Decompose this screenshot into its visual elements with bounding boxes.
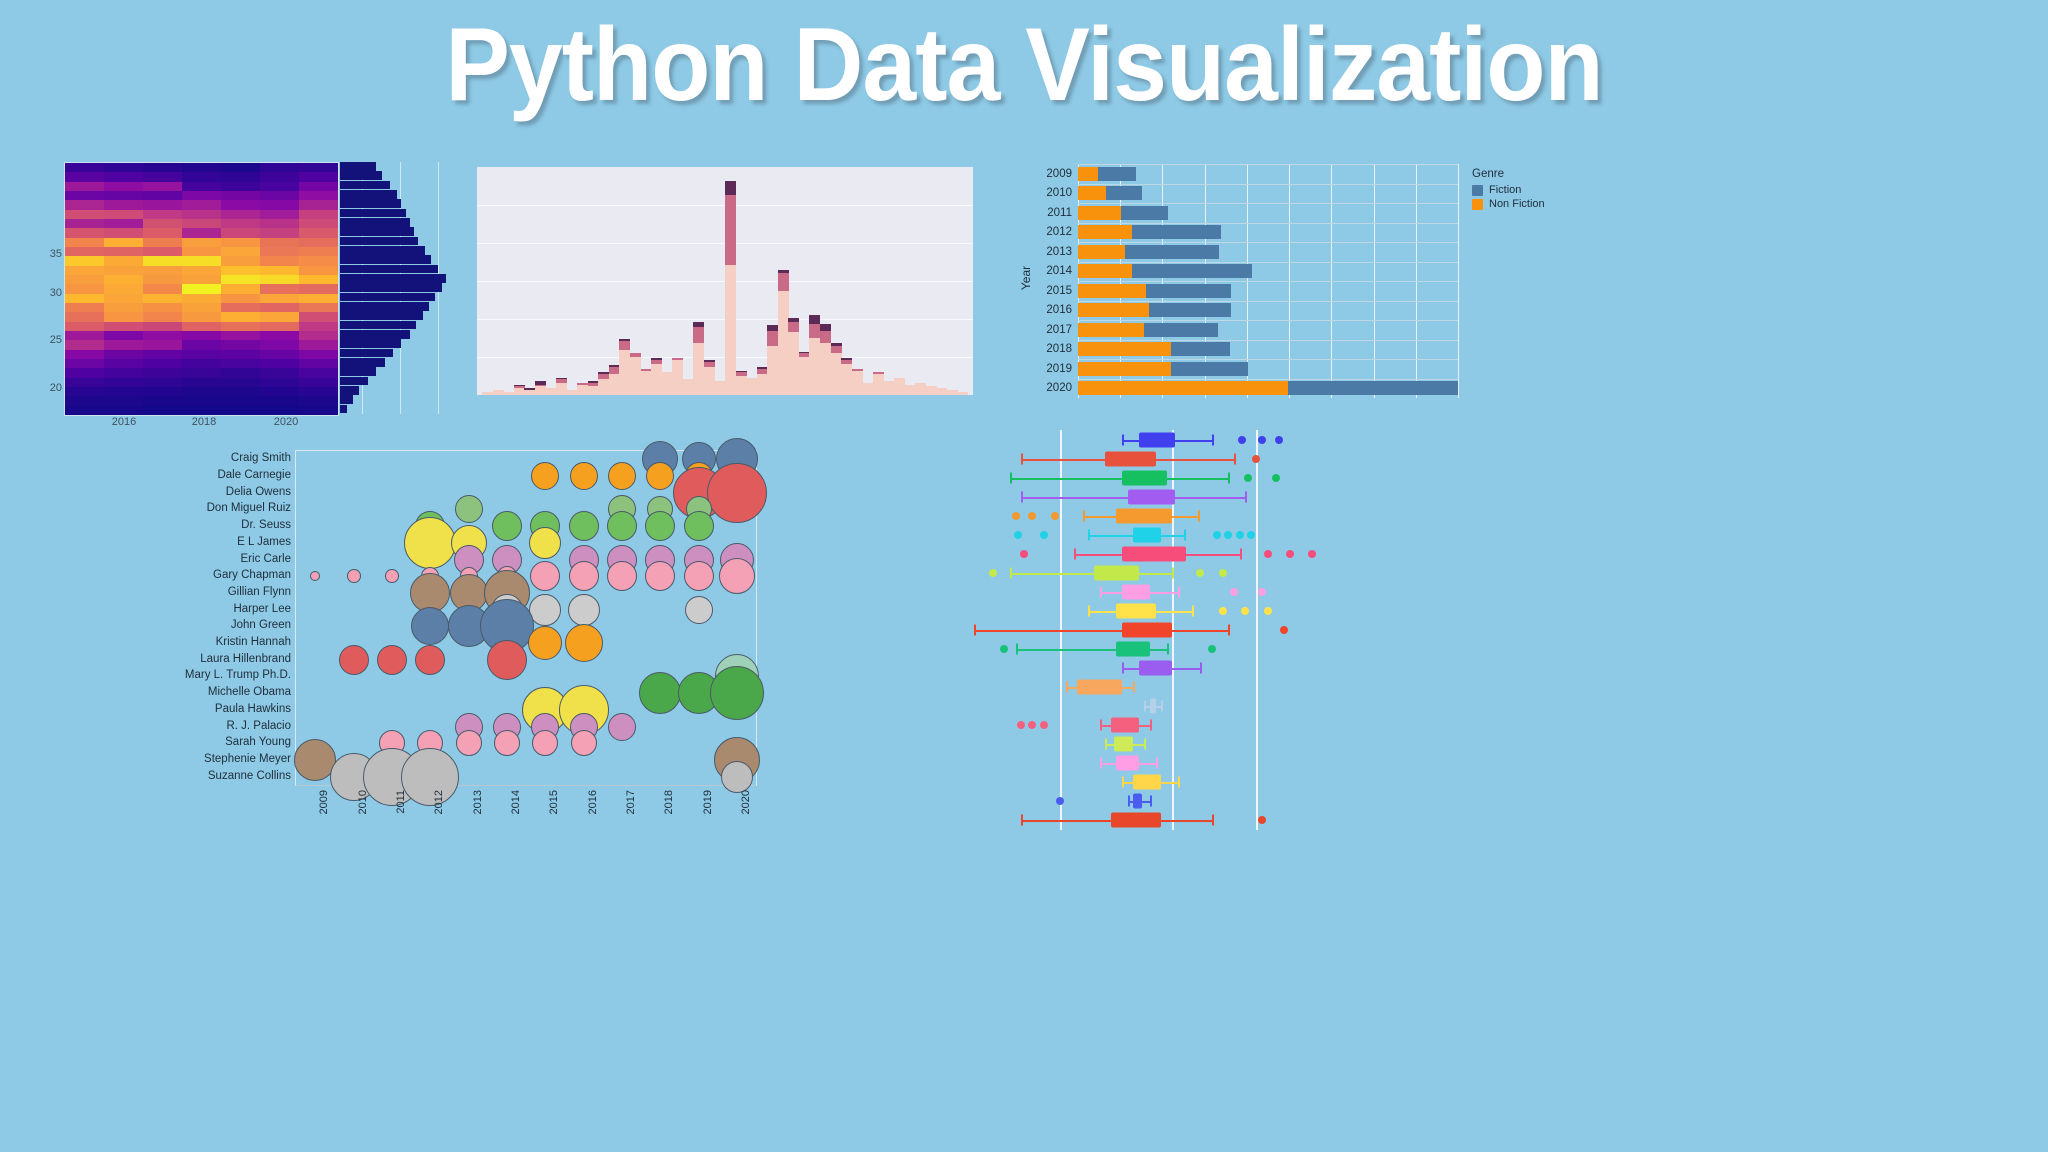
- histogram-column: [915, 383, 926, 395]
- bubble-point[interactable]: [608, 462, 636, 490]
- heatmap-cell: [143, 303, 182, 312]
- genre-legend-title: Genre: [1472, 168, 1545, 180]
- fiction-swatch: [1472, 185, 1483, 196]
- heatmap-cell: [182, 219, 221, 228]
- boxplot-box[interactable]: [1111, 813, 1161, 828]
- marginal-hist-bar: [340, 237, 418, 246]
- stacked-bar-row[interactable]: [1078, 303, 1458, 317]
- boxplot-whisker-cap: [1128, 796, 1130, 807]
- bubble-point[interactable]: [569, 561, 599, 591]
- boxplot-flier: [1272, 474, 1280, 482]
- boxplot-whisker-cap: [1150, 720, 1152, 731]
- bubble-point[interactable]: [571, 730, 597, 756]
- histogram-segment: [778, 273, 789, 290]
- stacked-bar-segment-non-fiction[interactable]: [1078, 264, 1132, 278]
- bubble-point[interactable]: [710, 666, 764, 720]
- heatmap-cell: [104, 228, 143, 237]
- heatmap-cell: [299, 350, 338, 359]
- boxplot-box[interactable]: [1105, 451, 1155, 466]
- heatmap-cell: [65, 350, 104, 359]
- heatmap-y-tick: 20: [50, 382, 62, 394]
- stacked-bar-year-label: 2012: [1046, 226, 1072, 238]
- heatmap-cell: [143, 238, 182, 247]
- stacked-bar-segment-non-fiction[interactable]: [1078, 381, 1288, 395]
- bubble-point[interactable]: [684, 511, 714, 541]
- stacked-bar-segment-non-fiction[interactable]: [1078, 245, 1125, 259]
- heatmap-cell: [260, 350, 299, 359]
- stacked-bar-row[interactable]: [1078, 225, 1458, 239]
- histogram-column: [535, 381, 546, 395]
- histogram-segment: [820, 324, 831, 331]
- histogram-column: [947, 390, 958, 395]
- stacked-bar-row[interactable]: [1078, 264, 1458, 278]
- bubble-point[interactable]: [707, 463, 767, 523]
- boxplot-whisker: [1010, 478, 1228, 480]
- boxplot-flier: [1264, 550, 1272, 558]
- boxplot-box[interactable]: [1077, 680, 1122, 695]
- stacked-bar-segment-fiction[interactable]: [1132, 264, 1251, 278]
- histogram-segment: [809, 338, 820, 395]
- histogram-segment: [598, 379, 609, 395]
- heatmap-cell: [143, 163, 182, 172]
- heatmap-cell: [299, 331, 338, 340]
- bubble-author-label: Stephenie Meyer: [204, 753, 291, 765]
- histogram-column: [862, 383, 873, 395]
- bubble-plot-area: [295, 450, 757, 786]
- bubble-author-label: E L James: [237, 536, 291, 548]
- heatmap-cell: [65, 331, 104, 340]
- bubble-point[interactable]: [684, 561, 714, 591]
- stacked-bar-row-divider: [1078, 379, 1458, 380]
- histogram-segment: [915, 383, 926, 395]
- heatmap-cell: [104, 256, 143, 265]
- boxplot-box[interactable]: [1122, 470, 1167, 485]
- stacked-bar-segment-non-fiction[interactable]: [1078, 303, 1149, 317]
- bubble-year-label: 2019: [702, 790, 714, 814]
- stacked-bar-row[interactable]: [1078, 186, 1458, 200]
- stacked-bar-row-divider: [1078, 301, 1458, 302]
- stacked-bar-row-divider: [1078, 262, 1458, 263]
- histogram-segment: [725, 195, 736, 265]
- histogram-segment: [904, 385, 915, 395]
- bubble-point[interactable]: [645, 511, 675, 541]
- bubble-point[interactable]: [377, 645, 407, 675]
- histogram-column: [651, 358, 662, 395]
- boxplot-gridline: [1256, 430, 1258, 830]
- histogram-segment: [809, 315, 820, 324]
- boxplot-whisker-cap: [1198, 510, 1200, 521]
- histogram-segment: [767, 331, 778, 347]
- boxplot-box[interactable]: [1094, 565, 1139, 580]
- histogram-column: [957, 392, 968, 395]
- heatmap-cell: [143, 331, 182, 340]
- boxplot-flier: [1280, 626, 1288, 634]
- histogram-column: [693, 322, 704, 395]
- bubble-point[interactable]: [608, 713, 636, 741]
- bubble-point[interactable]: [492, 511, 522, 541]
- boxplot-whisker-cap: [1156, 758, 1158, 769]
- histogram-column: [757, 367, 768, 395]
- histogram-column: [714, 381, 725, 395]
- heatmap-cell: [260, 163, 299, 172]
- boxplot-whisker-cap: [1144, 701, 1146, 712]
- heatmap-cell: [182, 238, 221, 247]
- histogram-segment: [820, 343, 831, 395]
- boxplot-box[interactable]: [1116, 603, 1155, 618]
- heatmap-cell: [182, 340, 221, 349]
- histogram-segment: [641, 371, 652, 395]
- bubble-point[interactable]: [532, 730, 558, 756]
- stacked-bar-row[interactable]: [1078, 206, 1458, 220]
- histogram-column: [926, 386, 937, 395]
- stacked-bar-segment-fiction[interactable]: [1149, 303, 1231, 317]
- bubble-author-label: Harper Lee: [233, 603, 291, 615]
- boxplot-box[interactable]: [1150, 699, 1156, 714]
- heatmap-cell: [143, 275, 182, 284]
- heatmap-cell: [221, 266, 260, 275]
- heatmap-cell: [143, 350, 182, 359]
- heatmap-cell: [65, 163, 104, 172]
- stacked-bar-plot-area: [1078, 164, 1458, 398]
- bubble-point[interactable]: [568, 594, 600, 626]
- bubble-point[interactable]: [455, 495, 483, 523]
- boxplot-box[interactable]: [1133, 775, 1161, 790]
- bubble-point[interactable]: [530, 561, 560, 591]
- bubble-author-label: Don Miguel Ruiz: [207, 502, 291, 514]
- bubble-point[interactable]: [415, 645, 445, 675]
- heatmap-cell: [65, 396, 104, 405]
- heatmap-cell: [299, 163, 338, 172]
- histogram-segment: [820, 331, 831, 343]
- bubble-point[interactable]: [529, 527, 561, 559]
- heatmap-cell: [221, 322, 260, 331]
- marginal-hist-bar: [340, 265, 438, 274]
- heatmap-cell: [104, 312, 143, 321]
- boxplot-box[interactable]: [1116, 756, 1138, 771]
- heatmap-cell: [143, 219, 182, 228]
- heatmap-cell: [143, 294, 182, 303]
- stacked-bar-row[interactable]: [1078, 342, 1458, 356]
- boxplot-box[interactable]: [1116, 508, 1172, 523]
- marginal-hist-bar: [340, 218, 410, 227]
- heatmap-cell: [143, 266, 182, 275]
- heatmap-cell: [182, 256, 221, 265]
- histogram-column: [567, 390, 578, 395]
- bubble-point[interactable]: [529, 594, 561, 626]
- heatmap-x-tick: 2018: [192, 416, 216, 428]
- bubble-point[interactable]: [347, 569, 361, 583]
- histogram-column: [514, 385, 525, 395]
- bubble-author-label: Dale Carnegie: [217, 469, 291, 481]
- bubble-year-label: 2016: [587, 790, 599, 814]
- heatmap-cell: [221, 210, 260, 219]
- boxplot-box[interactable]: [1122, 623, 1172, 638]
- marginal-hist-bar: [340, 349, 393, 358]
- stacked-bar-row[interactable]: [1078, 167, 1458, 181]
- histogram-segment: [619, 350, 630, 395]
- bubble-point[interactable]: [411, 607, 449, 645]
- heatmap-cell: [260, 228, 299, 237]
- heatmap-cell: [182, 210, 221, 219]
- boxplot-flier: [1264, 607, 1272, 615]
- bubble-year-label: 2011: [395, 790, 407, 814]
- boxplot-whisker-cap: [1010, 567, 1012, 578]
- stacked-bar-row[interactable]: [1078, 245, 1458, 259]
- heatmap-cell: [143, 312, 182, 321]
- histogram-segment: [788, 322, 799, 332]
- stacked-bar-segment-fiction[interactable]: [1171, 342, 1230, 356]
- marginal-hist-bar: [340, 274, 446, 283]
- boxplot-whisker-cap: [1200, 663, 1202, 674]
- heatmap-cell: [221, 275, 260, 284]
- bubble-author-label: Suzanne Collins: [208, 770, 291, 782]
- heatmap-cell: [65, 200, 104, 209]
- heatmap-cell: [143, 322, 182, 331]
- histogram-column: [503, 392, 514, 395]
- stacked-bar-segment-fiction[interactable]: [1098, 167, 1135, 181]
- heatmap-cell: [65, 182, 104, 191]
- stacked-bar-segment-non-fiction[interactable]: [1078, 225, 1132, 239]
- histogram-segment: [503, 392, 514, 395]
- stacked-bar-segment-fiction[interactable]: [1146, 284, 1231, 298]
- heatmap-cell: [143, 228, 182, 237]
- heatmap-cell: [182, 247, 221, 256]
- histogram-column: [577, 383, 588, 395]
- bubble-point[interactable]: [607, 511, 637, 541]
- heatmap-cell: [221, 359, 260, 368]
- histogram-segment: [714, 381, 725, 395]
- boxplot-box[interactable]: [1139, 661, 1173, 676]
- heatmap-cell: [143, 247, 182, 256]
- bubble-author-label: Eric Carle: [241, 553, 291, 565]
- stacked-bar-segment-non-fiction[interactable]: [1078, 284, 1146, 298]
- boxplot-box[interactable]: [1128, 489, 1176, 504]
- histogram-segment: [577, 385, 588, 395]
- histogram-column: [936, 388, 947, 395]
- stacked-bar-row[interactable]: [1078, 284, 1458, 298]
- heatmap-cell: [182, 368, 221, 377]
- heatmap-cell: [182, 284, 221, 293]
- marginal-histogram: [340, 162, 448, 414]
- bubble-year-label: 2009: [318, 790, 330, 814]
- marginal-hist-bar: [340, 302, 429, 311]
- bubble-point[interactable]: [401, 748, 459, 806]
- histogram-segment: [546, 388, 557, 395]
- bubble-point[interactable]: [721, 761, 753, 793]
- bubble-year-label: 2020: [740, 790, 752, 814]
- heatmap-cell: [221, 378, 260, 387]
- heatmap-cell: [182, 275, 221, 284]
- bubble-point[interactable]: [570, 462, 598, 490]
- bubble-point[interactable]: [404, 517, 456, 569]
- bubble-point[interactable]: [310, 571, 320, 581]
- histogram-segment: [651, 364, 662, 395]
- heatmap-cell: [299, 284, 338, 293]
- histogram-segment: [767, 346, 778, 395]
- heatmap-x-tick: 2016: [112, 416, 136, 428]
- bubble-author-label: Paula Hawkins: [215, 703, 291, 715]
- heatmap-cell: [299, 322, 338, 331]
- boxplot-flier: [989, 569, 997, 577]
- boxplot-panel: [940, 430, 1360, 830]
- heatmap-cell: [260, 172, 299, 181]
- bubble-author-label: Sarah Young: [225, 736, 291, 748]
- histogram-segment: [683, 379, 694, 395]
- histogram-column: [799, 352, 810, 395]
- bubble-author-label: Delia Owens: [226, 486, 291, 498]
- boxplot-whisker-cap: [1122, 663, 1124, 674]
- heatmap-cell: [299, 182, 338, 191]
- stacked-bar-row[interactable]: [1078, 362, 1458, 376]
- marginal-hist-bar: [340, 190, 397, 199]
- boxplot-whisker-cap: [1228, 625, 1230, 636]
- heatmap-cell: [260, 275, 299, 284]
- histogram-segment: [725, 181, 736, 195]
- heatmap-cell: [221, 387, 260, 396]
- stacked-bar-segment-non-fiction[interactable]: [1078, 206, 1121, 220]
- heatmap-cell: [104, 284, 143, 293]
- bubble-point[interactable]: [385, 569, 399, 583]
- stacked-bar-row[interactable]: [1078, 381, 1458, 395]
- boxplot-whisker-cap: [1100, 586, 1102, 597]
- boxplot-flier: [1020, 550, 1028, 558]
- histogram-column: [630, 353, 641, 395]
- heatmap-cell: [299, 312, 338, 321]
- boxplot-box[interactable]: [1122, 546, 1186, 561]
- marginal-hist-bar: [340, 311, 423, 320]
- heatmap-cell: [182, 322, 221, 331]
- heatmap-y-axis: 35302520: [48, 162, 64, 414]
- boxplot-box[interactable]: [1133, 794, 1141, 809]
- stacked-bar-segment-fiction[interactable]: [1144, 323, 1218, 337]
- stacked-bar-segment-non-fiction[interactable]: [1078, 167, 1098, 181]
- heatmap-cell: [104, 210, 143, 219]
- boxplot-plot-area: [940, 430, 1360, 830]
- heatmap-y-tick: 30: [50, 287, 62, 299]
- stacked-bar-segment-fiction[interactable]: [1125, 245, 1219, 259]
- histogram-segment: [757, 374, 768, 395]
- histogram-column: [546, 388, 557, 395]
- heatmap-y-tick: 35: [50, 248, 62, 260]
- bubble-point[interactable]: [685, 596, 713, 624]
- boxplot-box[interactable]: [1116, 642, 1150, 657]
- bubble-point[interactable]: [494, 730, 520, 756]
- histogram-column: [493, 390, 504, 395]
- heatmap-cell: [260, 200, 299, 209]
- heatmap-cell: [299, 294, 338, 303]
- heatmap-cell: [221, 247, 260, 256]
- heatmap-cell: [299, 406, 338, 415]
- bubble-point[interactable]: [569, 511, 599, 541]
- heatmap-cell: [182, 350, 221, 359]
- histogram-column: [788, 318, 799, 395]
- marginal-hist-bar: [340, 255, 431, 264]
- heatmap-cell: [182, 182, 221, 191]
- stacked-bar-segment-fiction[interactable]: [1171, 362, 1248, 376]
- stacked-bar-segment-non-fiction[interactable]: [1078, 186, 1106, 200]
- boxplot-flier: [1275, 436, 1283, 444]
- boxplot-flier: [1012, 512, 1020, 520]
- marginal-hist-bar: [340, 395, 353, 404]
- stacked-bar-segment-non-fiction[interactable]: [1078, 342, 1171, 356]
- histogram-segment: [862, 383, 873, 395]
- bubble-point[interactable]: [645, 561, 675, 591]
- stacked-bar-row[interactable]: [1078, 323, 1458, 337]
- bubble-point[interactable]: [639, 672, 681, 714]
- histogram-column: [672, 358, 683, 395]
- bubble-author-label: Kristin Hannah: [216, 636, 291, 648]
- bubble-author-label: Gillian Flynn: [228, 586, 291, 598]
- bubble-point[interactable]: [339, 645, 369, 675]
- histogram-column: [778, 270, 789, 395]
- stacked-bar-segment-fiction[interactable]: [1288, 381, 1458, 395]
- bubble-point[interactable]: [719, 558, 755, 594]
- heatmap-cell: [260, 303, 299, 312]
- heatmap-cell: [299, 396, 338, 405]
- boxplot-box[interactable]: [1114, 737, 1134, 752]
- boxplot-box[interactable]: [1122, 584, 1150, 599]
- stacked-bar-segment-non-fiction[interactable]: [1078, 323, 1144, 337]
- histogram-column: [831, 343, 842, 395]
- boxplot-box[interactable]: [1139, 432, 1175, 447]
- histogram-segment: [778, 291, 789, 395]
- bubble-point[interactable]: [487, 640, 527, 680]
- legend-item-non-fiction[interactable]: Non Fiction: [1472, 198, 1545, 210]
- marginal-hist-bar: [340, 358, 385, 367]
- histogram-segment: [556, 383, 567, 395]
- stacked-bar-segment-fiction[interactable]: [1132, 225, 1220, 239]
- heatmap-cell: [65, 378, 104, 387]
- bubble-point[interactable]: [607, 561, 637, 591]
- stacked-bar-y-axis-title: Year: [1019, 266, 1033, 290]
- heatmap-cell: [104, 396, 143, 405]
- bubble-point[interactable]: [528, 626, 562, 660]
- bubble-point[interactable]: [531, 462, 559, 490]
- legend-label-fiction: Fiction: [1489, 184, 1521, 196]
- heatmap-cell: [65, 219, 104, 228]
- heatmap-cell: [182, 191, 221, 200]
- boxplot-flier: [1258, 436, 1266, 444]
- stacked-bar-row-divider: [1078, 281, 1458, 282]
- stacked-bar-year-label: 2020: [1046, 382, 1072, 394]
- heatmap-cell: [143, 378, 182, 387]
- stacked-bar-year-label: 2016: [1046, 304, 1072, 316]
- stacked-bar-segment-fiction[interactable]: [1121, 206, 1168, 220]
- histogram-segment: [704, 367, 715, 395]
- histogram-segment: [746, 378, 757, 395]
- boxplot-whisker-cap: [1150, 796, 1152, 807]
- histogram-column: [598, 372, 609, 395]
- histogram-column: [725, 181, 736, 395]
- histogram-segment: [831, 353, 842, 395]
- boxplot-box[interactable]: [1133, 527, 1161, 542]
- heatmap-cell: [299, 340, 338, 349]
- bubble-point[interactable]: [456, 730, 482, 756]
- boxplot-box[interactable]: [1111, 718, 1139, 733]
- stacked-bar-segment-non-fiction[interactable]: [1078, 362, 1171, 376]
- bubble-point[interactable]: [565, 624, 603, 662]
- genre-legend: Genre Fiction Non Fiction: [1472, 168, 1545, 212]
- legend-item-fiction[interactable]: Fiction: [1472, 184, 1545, 196]
- histogram-segment: [482, 392, 493, 395]
- stacked-bar-segment-fiction[interactable]: [1106, 186, 1141, 200]
- heatmap-cell: [182, 378, 221, 387]
- stacked-bar-year-label: 2019: [1046, 363, 1072, 375]
- heatmap-cell: [143, 256, 182, 265]
- histogram-segment: [609, 374, 620, 395]
- bubble-point[interactable]: [646, 462, 674, 490]
- boxplot-flier: [1238, 436, 1246, 444]
